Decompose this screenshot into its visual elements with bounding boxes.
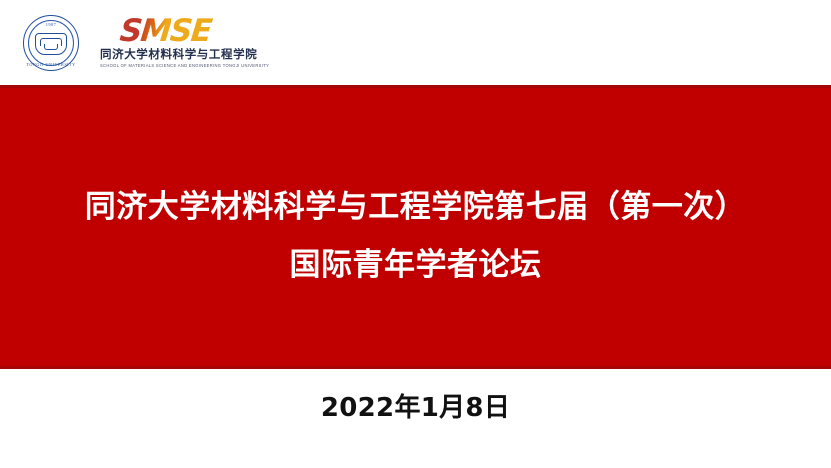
school-logo: SMSE 同济大学材料科学与工程学院 SCHOOL OF MATERIALS S… — [100, 16, 269, 70]
seal-year-label: 1907 — [22, 22, 80, 27]
red-title-banner: 同济大学材料科学与工程学院第七届（第一次） 国际青年学者论坛 — [0, 85, 831, 369]
tongji-university-seal-icon: 1907 TONGJI UNIVERSITY — [22, 14, 80, 72]
seal-emblem-shape — [35, 33, 67, 55]
smse-wordmark-icon: SMSE — [118, 16, 212, 46]
school-name-english: SCHOOL OF MATERIALS SCIENCE AND ENGINEER… — [100, 62, 269, 70]
seal-arc-label: TONGJI UNIVERSITY — [22, 62, 80, 67]
footer-area: 2022年1月8日 — [0, 369, 831, 468]
header-logo-bar: 1907 TONGJI UNIVERSITY SMSE 同济大学材料科学与工程学… — [0, 0, 831, 85]
page-title-line-2: 国际青年学者论坛 — [290, 240, 542, 290]
smse-letter-m: M — [139, 16, 172, 46]
logo-group: 1907 TONGJI UNIVERSITY SMSE 同济大学材料科学与工程学… — [22, 14, 269, 72]
slide-canvas: 1907 TONGJI UNIVERSITY SMSE 同济大学材料科学与工程学… — [0, 0, 831, 468]
event-date: 2022年1月8日 — [321, 391, 510, 425]
page-title-line-1: 同济大学材料科学与工程学院第七届（第一次） — [85, 182, 747, 232]
smse-letter-e: E — [189, 16, 212, 46]
